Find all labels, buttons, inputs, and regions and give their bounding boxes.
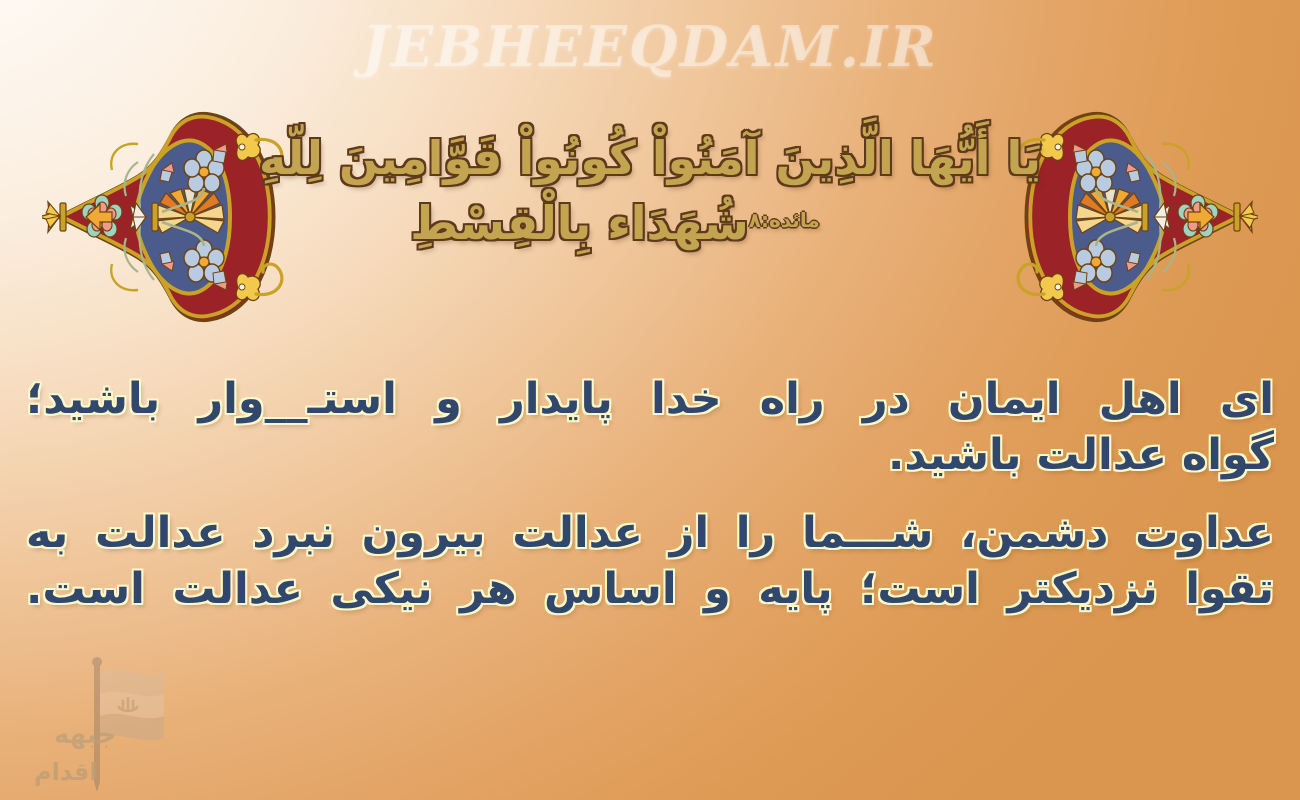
- translation-line-2: گواه عدالت باشید.: [26, 428, 1274, 484]
- quran-verse-line-1: يَا أَيُّهَا الَّذِينَ آمَنُواْ كُونُواْ…: [0, 128, 1300, 189]
- translation-line-4: تقوا نزدیکتر است؛ پایه و اساس هر نیکی عد…: [26, 562, 1274, 618]
- translation-paragraph-1: ای اهل ایمان در راه خدا پایدار و استـ__و…: [26, 372, 1274, 484]
- translation-paragraph-2: عداوت دشمن، شـــما را از عدالت بیرون نبر…: [26, 506, 1274, 618]
- iran-flag-icon: [36, 646, 186, 796]
- site-watermark: JEBHEEQDAM.IR: [0, 14, 1300, 80]
- banner-canvas: JEBHEEQDAM.IR: [0, 0, 1300, 800]
- persian-translation: ای اهل ایمان در راه خدا پایدار و استـ__و…: [0, 372, 1300, 618]
- quran-verse-block: يَا أَيُّهَا الَّذِينَ آمَنُواْ كُونُواْ…: [0, 128, 1300, 253]
- jebhe-eqdam-logo-watermark: جبهه اقدام: [36, 646, 186, 796]
- logo-text-top: جبهه: [54, 720, 116, 750]
- quran-verse-line-2-row: مائده:۸شُهَدَاء بِالْقِسْطِ: [0, 193, 1300, 254]
- quran-verse-line-2: شُهَدَاء بِالْقِسْطِ: [410, 196, 748, 250]
- quran-verse-citation: مائده:۸: [749, 207, 820, 233]
- translation-line-3: عداوت دشمن، شـــما را از عدالت بیرون نبر…: [26, 506, 1274, 562]
- translation-line-1: ای اهل ایمان در راه خدا پایدار و استـ__و…: [26, 372, 1274, 428]
- logo-text-bottom: اقدام: [34, 758, 98, 786]
